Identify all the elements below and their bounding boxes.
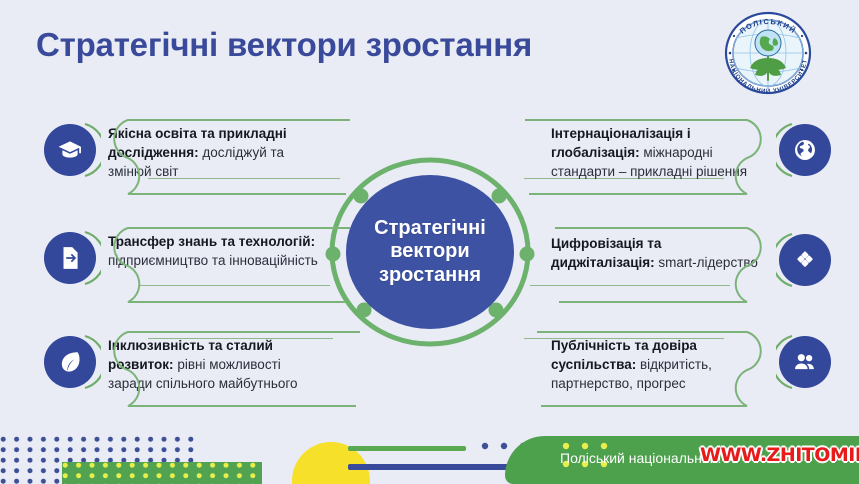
file-transfer-icon[interactable] bbox=[44, 232, 96, 284]
vector-item-inclusivity[interactable]: Інклюзивність та сталий розвиток: рівні … bbox=[44, 336, 324, 393]
university-logo: ПОЛІСЬКИЙ НАЦІОНАЛЬНИЙ УНІВЕРСИТЕТ bbox=[716, 6, 820, 100]
vector-desc: підприємництво та інноваційність bbox=[108, 253, 318, 268]
center-label: Стратегічні вектори зростання bbox=[374, 217, 486, 287]
center-disc: Стратегічні вектори зростання bbox=[346, 175, 514, 329]
icon-wrap bbox=[779, 234, 831, 286]
vector-item-quality-education[interactable]: Якісна освіта та прикладні дослідження: … bbox=[44, 124, 324, 181]
vector-text: Інтернаціоналізація і глобалізація: міжн… bbox=[551, 124, 767, 181]
diamonds-icon[interactable] bbox=[779, 234, 831, 286]
vector-title: Цифровізація та диджіталізація: bbox=[551, 236, 661, 270]
green-accent-line bbox=[348, 446, 466, 451]
vector-text: Публічність та довіра суспільства: відкр… bbox=[551, 336, 767, 393]
vector-item-public-trust[interactable]: Публічність та довіра суспільства: відкр… bbox=[551, 336, 831, 393]
watermark-text: WWW.ZHITOMIR.INFO bbox=[700, 444, 859, 466]
icon-wrap bbox=[779, 124, 831, 176]
center-node: Стратегічні вектори зростання bbox=[318, 150, 542, 354]
vector-item-knowledge-transfer[interactable]: Трансфер знань та технологій: підприємни… bbox=[44, 232, 324, 284]
vector-text: Цифровізація та диджіталізація: smart-лі… bbox=[551, 234, 767, 272]
center-line-3: зростання bbox=[379, 264, 481, 286]
vector-item-digitalization[interactable]: Цифровізація та диджіталізація: smart-лі… bbox=[551, 234, 831, 286]
vector-item-internationalization[interactable]: Інтернаціоналізація і глобалізація: міжн… bbox=[551, 124, 831, 181]
vector-desc: smart-лідерство bbox=[655, 255, 758, 270]
icon-wrap bbox=[44, 124, 96, 176]
vector-text: Інклюзивність та сталий розвиток: рівні … bbox=[108, 336, 324, 393]
icon-wrap bbox=[779, 336, 831, 388]
center-line-2: вектори bbox=[390, 240, 469, 262]
people-icon[interactable] bbox=[779, 336, 831, 388]
icon-wrap bbox=[44, 232, 96, 284]
slide-canvas: Стратегічні вектори зростання bbox=[0, 0, 859, 484]
footer-decoration: Поліський національний! Х WWW.ZHITOMIR.I… bbox=[0, 436, 859, 484]
globe-icon[interactable] bbox=[779, 124, 831, 176]
yellow-dot-grid-icon bbox=[62, 462, 262, 484]
leaf-icon[interactable] bbox=[44, 336, 96, 388]
icon-wrap bbox=[44, 336, 96, 388]
connector-line-left-2 bbox=[140, 285, 330, 286]
page-title: Стратегічні вектори зростання bbox=[36, 26, 532, 64]
center-line-1: Стратегічні bbox=[374, 217, 486, 239]
vector-text: Трансфер знань та технологій: підприємни… bbox=[108, 232, 324, 270]
vector-text: Якісна освіта та прикладні дослідження: … bbox=[108, 124, 324, 181]
graduation-cap-icon[interactable] bbox=[44, 124, 96, 176]
vector-title: Трансфер знань та технологій: bbox=[108, 234, 315, 249]
